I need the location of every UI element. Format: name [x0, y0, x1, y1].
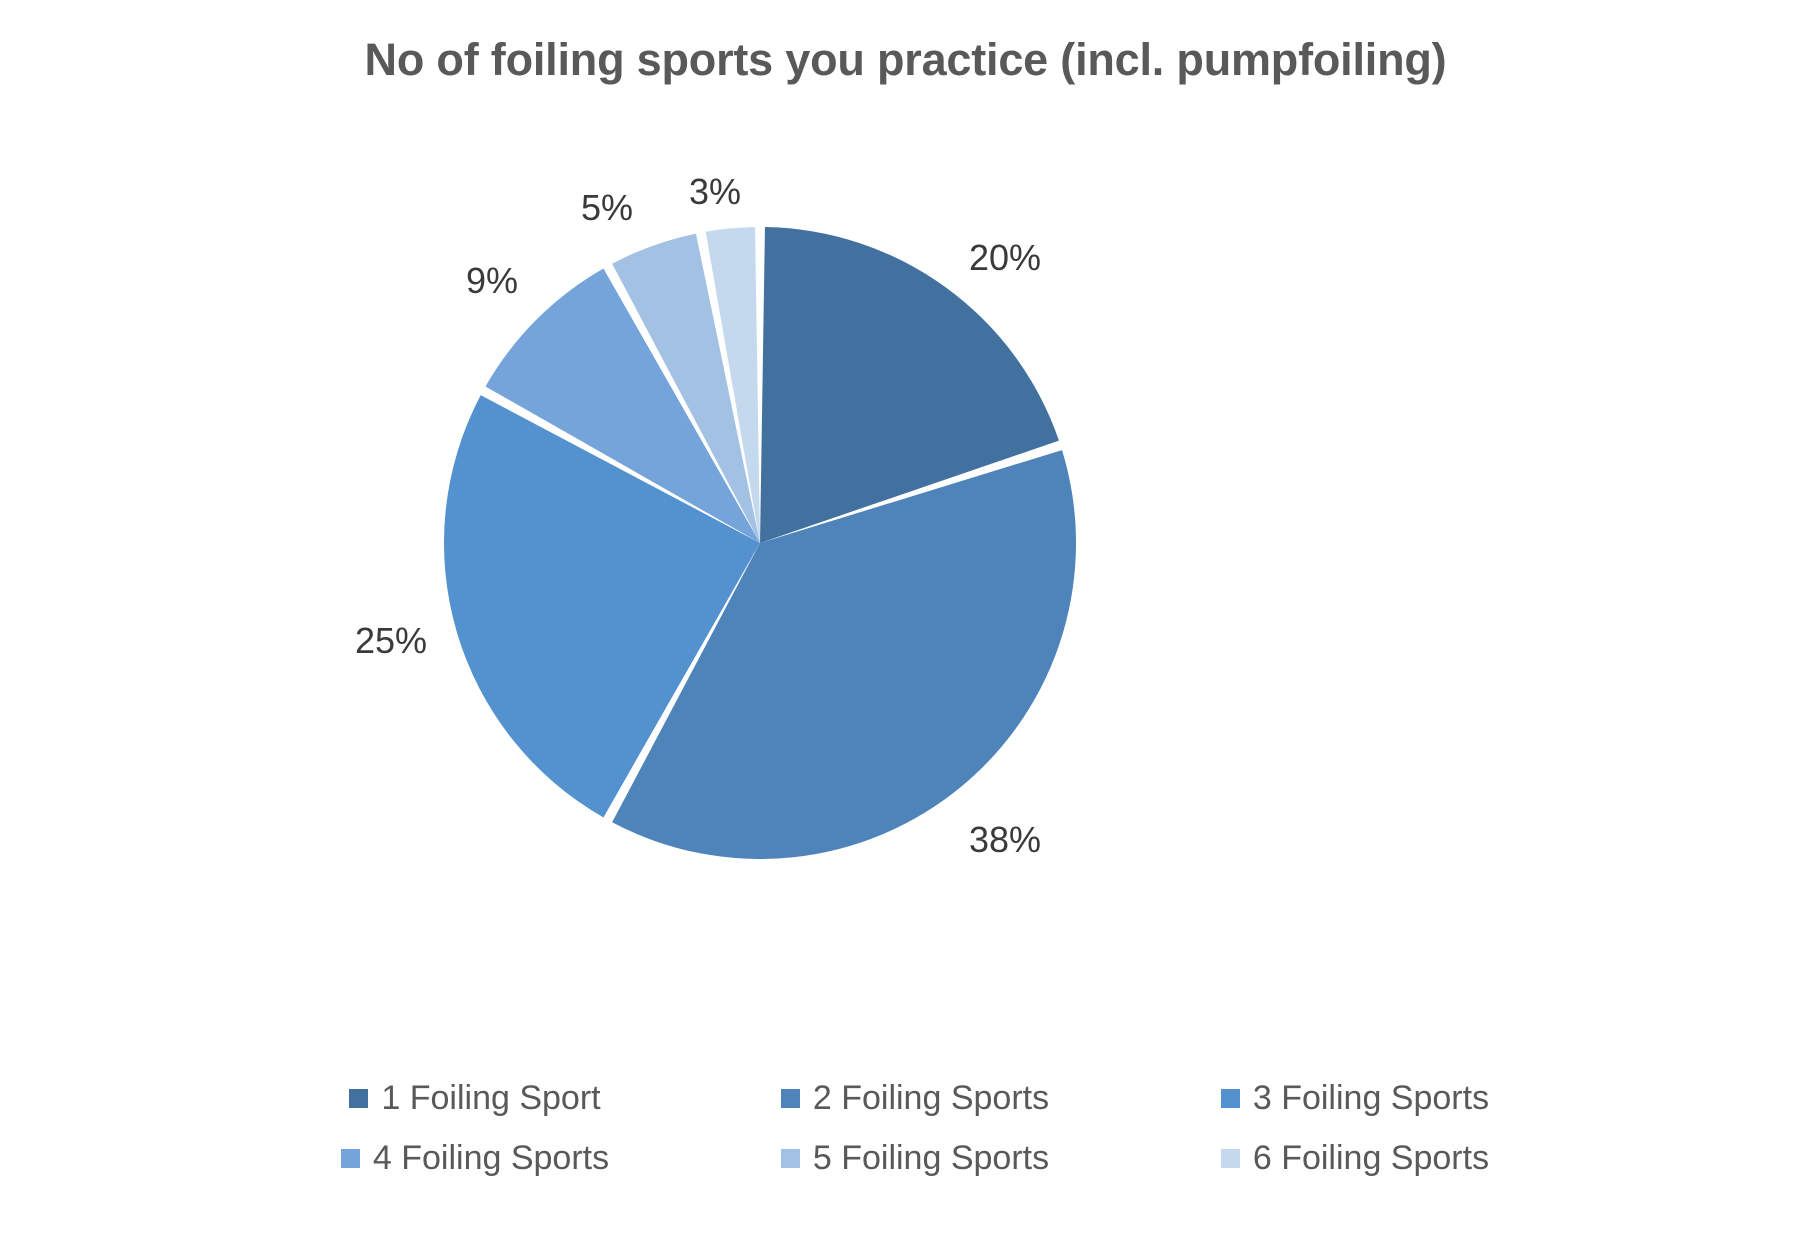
legend-item-5-foiling-sports[interactable]: 5 Foiling Sports: [695, 1128, 1135, 1188]
slice-label-6: 3%: [689, 171, 741, 213]
legend-label: 6 Foiling Sports: [1253, 1139, 1489, 1178]
legend-item-3-foiling-sports[interactable]: 3 Foiling Sports: [1135, 1068, 1575, 1128]
legend-item-6-foiling-sports[interactable]: 6 Foiling Sports: [1135, 1128, 1575, 1188]
pie-plot-area: 20% 38% 25% 9% 5% 3%: [0, 0, 1811, 1060]
legend-label: 1 Foiling Sport: [381, 1079, 600, 1118]
legend-swatch-icon: [1221, 1089, 1240, 1108]
legend-label: 4 Foiling Sports: [373, 1139, 609, 1178]
legend-swatch-icon: [781, 1089, 800, 1108]
slice-label-4: 9%: [466, 260, 518, 302]
pie-svg: [0, 0, 1811, 1060]
legend-label: 2 Foiling Sports: [813, 1079, 1049, 1118]
legend-swatch-icon: [1221, 1149, 1240, 1168]
legend-swatch-icon: [341, 1149, 360, 1168]
legend-label: 3 Foiling Sports: [1253, 1079, 1489, 1118]
slice-label-1: 20%: [969, 237, 1041, 279]
slice-label-3: 25%: [355, 620, 427, 662]
legend-item-2-foiling-sports[interactable]: 2 Foiling Sports: [695, 1068, 1135, 1128]
legend-item-1-foiling-sport[interactable]: 1 Foiling Sport: [255, 1068, 695, 1128]
pie-chart: No of foiling sports you practice (incl.…: [0, 0, 1811, 1245]
legend-item-4-foiling-sports[interactable]: 4 Foiling Sports: [255, 1128, 695, 1188]
legend-swatch-icon: [349, 1089, 368, 1108]
chart-legend: 1 Foiling Sport 2 Foiling Sports 3 Foili…: [255, 1068, 1575, 1188]
slice-label-2: 38%: [969, 819, 1041, 861]
slice-label-5: 5%: [581, 187, 633, 229]
legend-label: 5 Foiling Sports: [813, 1139, 1049, 1178]
legend-swatch-icon: [781, 1149, 800, 1168]
